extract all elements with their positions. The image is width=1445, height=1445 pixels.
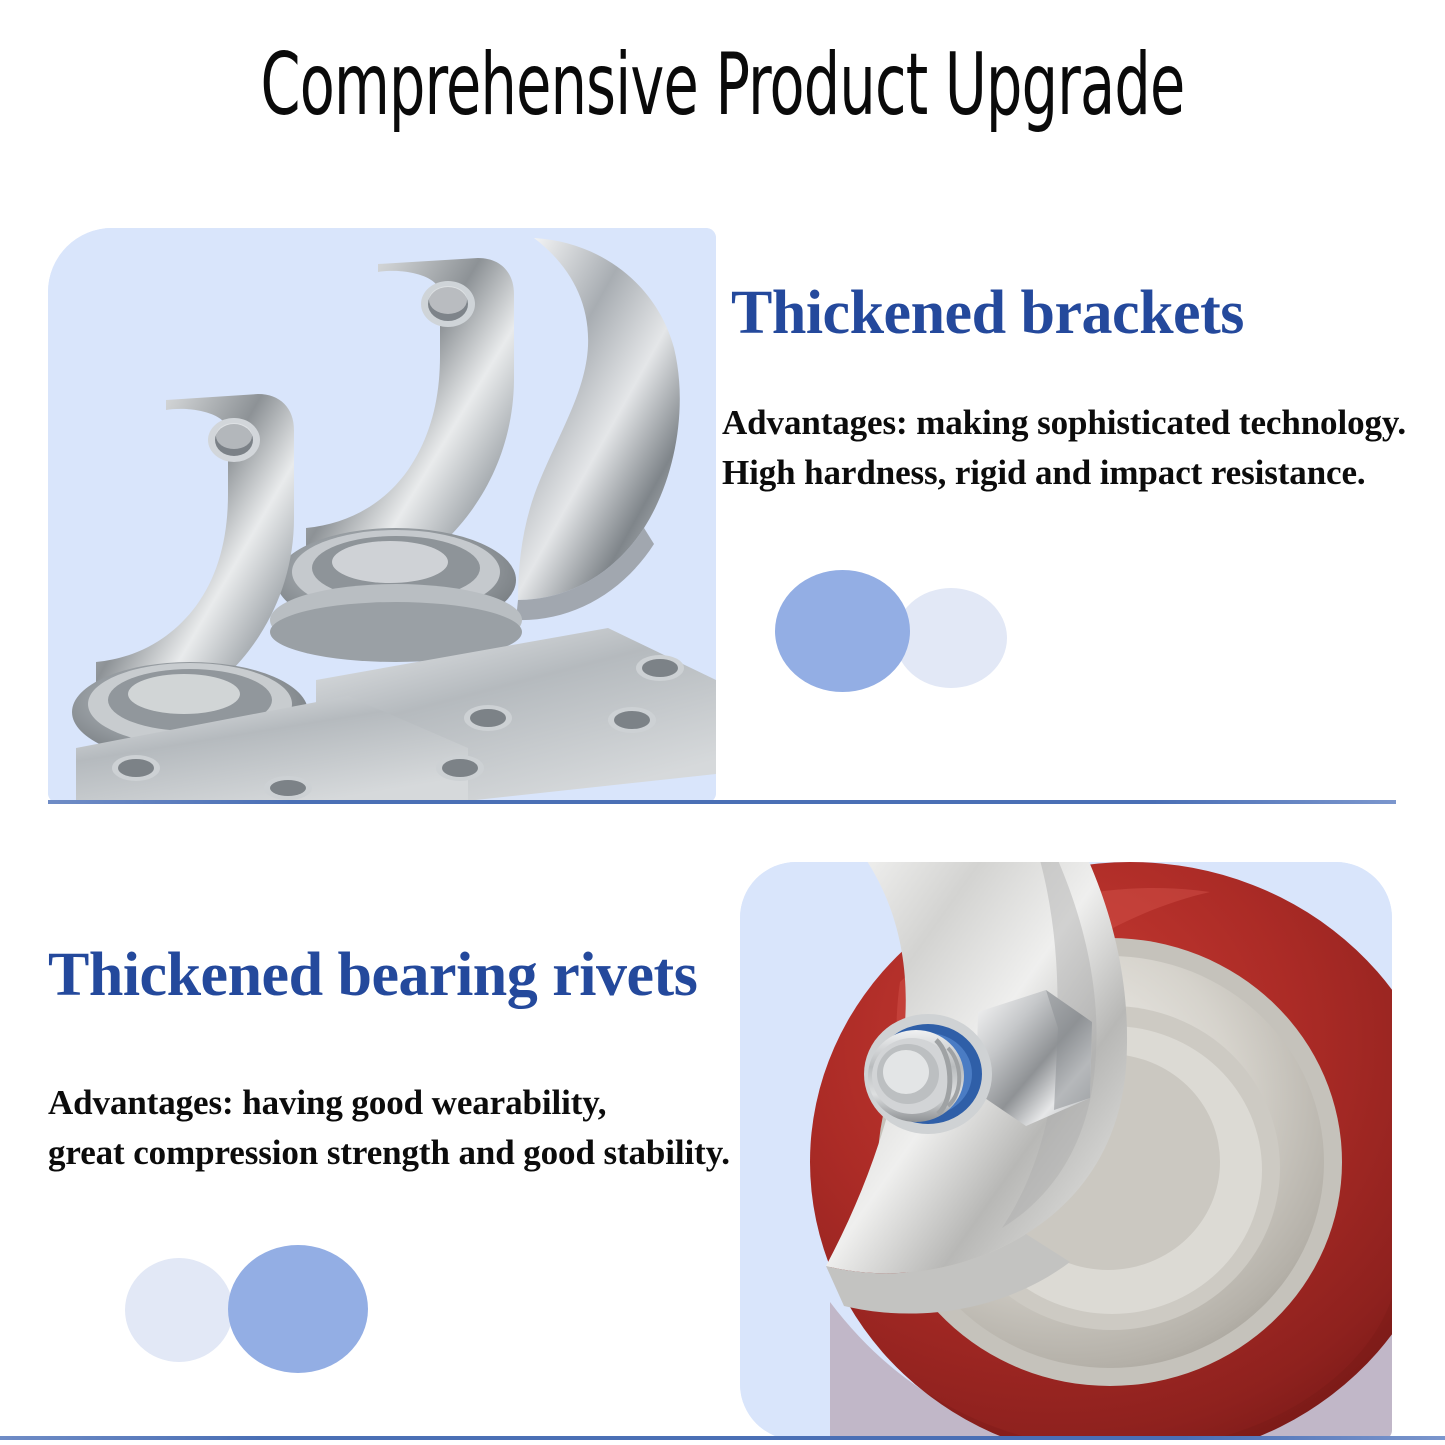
brackets-body-line-1: Advantages: making sophisticated technol…	[722, 398, 1406, 448]
brackets-body: Advantages: making sophisticated technol…	[722, 398, 1406, 497]
brackets-body-line-2: High hardness, rigid and impact resistan…	[722, 448, 1406, 498]
brackets-photo-panel	[48, 228, 716, 803]
decorative-circle-pale	[125, 1258, 233, 1362]
chrome-caster-brackets-photo	[48, 228, 716, 803]
red-caster-wheel-bearing-rivet-photo	[740, 862, 1392, 1440]
decorative-circle-pale	[895, 588, 1007, 688]
brackets-heading: Thickened brackets	[731, 278, 1244, 349]
page-title: Comprehensive Product Upgrade	[188, 40, 1257, 130]
rivets-body-line-2: great compression strength and good stab…	[48, 1128, 730, 1178]
rivets-body: Advantages: having good wearability, gre…	[48, 1078, 730, 1177]
decorative-circle-blue	[775, 570, 910, 692]
section-divider	[48, 800, 1396, 804]
wheel-photo-panel	[740, 862, 1392, 1440]
product-upgrade-infographic: Comprehensive Product Upgrade	[0, 0, 1445, 1445]
rivets-body-line-1: Advantages: having good wearability,	[48, 1078, 730, 1128]
rivets-heading: Thickened bearing rivets	[48, 940, 697, 1011]
decorative-circle-blue	[228, 1245, 368, 1373]
bottom-divider	[0, 1436, 1445, 1440]
